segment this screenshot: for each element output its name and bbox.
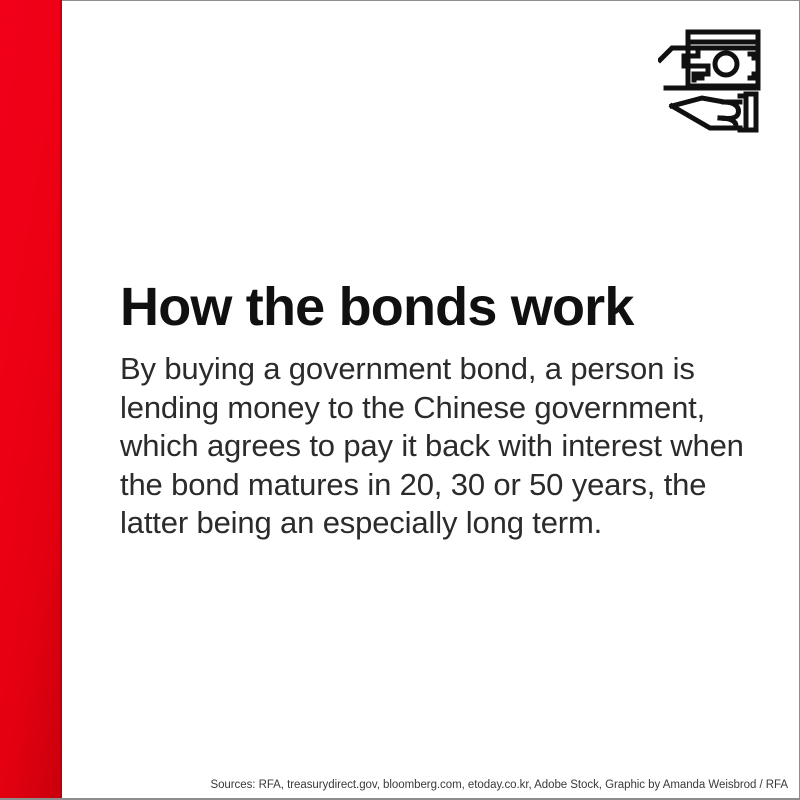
text-block: How the bonds work By buying a governmen… xyxy=(120,278,760,543)
infographic-card: How the bonds work By buying a governmen… xyxy=(0,0,800,800)
content-panel: How the bonds work By buying a governmen… xyxy=(62,0,800,800)
frame-top-border xyxy=(62,0,800,1)
hand-holding-money-icon xyxy=(658,22,776,134)
page-title: How the bonds work xyxy=(120,278,760,336)
sources-credit: Sources: RFA, treasurydirect.gov, bloomb… xyxy=(210,778,788,792)
body-paragraph: By buying a government bond, a person is… xyxy=(120,350,755,543)
accent-red-sidebar xyxy=(0,0,62,800)
